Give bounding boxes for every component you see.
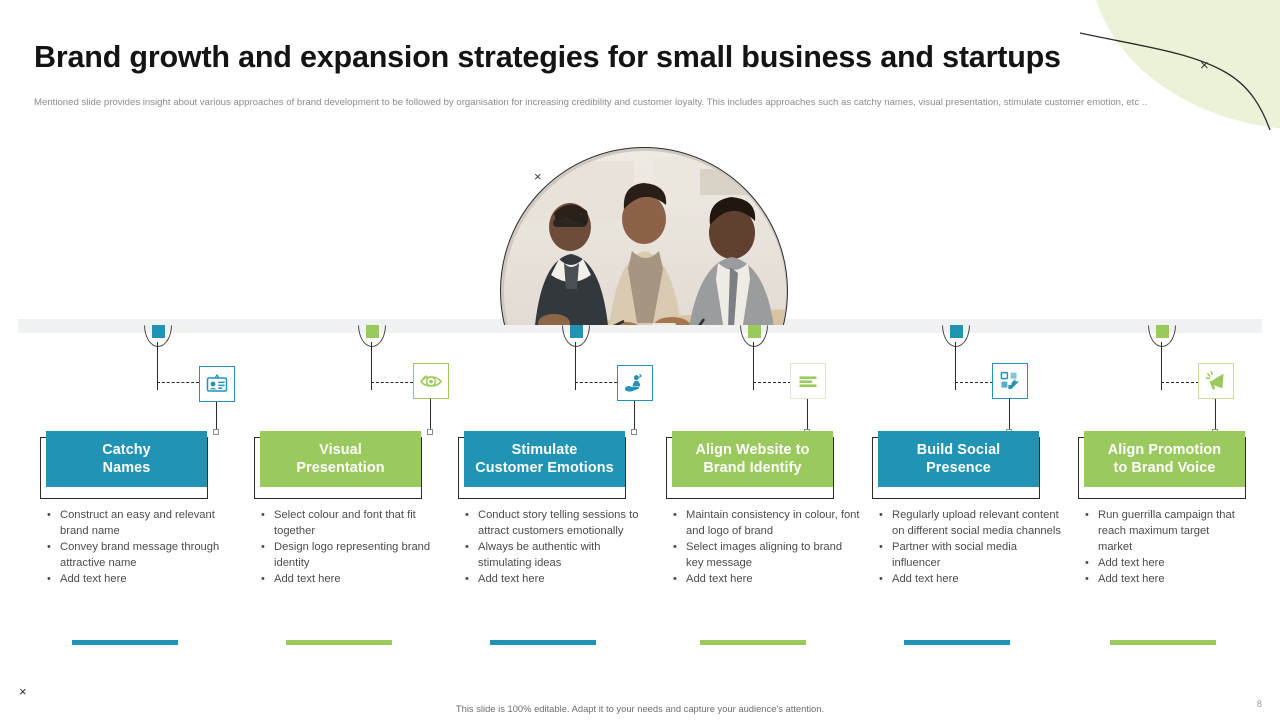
connector-stem-to-card xyxy=(1009,399,1010,432)
list-item: • Add text here xyxy=(1082,571,1242,587)
list-item: • Maintain consistency in colour, font a… xyxy=(670,507,860,539)
footer-note: This slide is 100% editable. Adapt it to… xyxy=(0,703,1280,714)
close-icon[interactable]: × xyxy=(1200,57,1209,74)
bullet-text: Add text here xyxy=(686,571,860,587)
card-title-line2: Presence xyxy=(926,460,991,476)
strategy-card-6[interactable]: Align Promotion to Brand Voice xyxy=(1078,437,1246,499)
card-underline-rule xyxy=(700,640,806,645)
connector-stem-to-card xyxy=(634,401,635,432)
connector-dash-horizontal xyxy=(575,382,617,383)
social-share-network-icon[interactable] xyxy=(992,363,1028,399)
bullet-text: Always be authentic with stimulating ide… xyxy=(478,539,652,571)
bullet-list-5: • Regularly upload relevant content on d… xyxy=(876,507,1066,587)
bullet-glyph: • xyxy=(1082,507,1098,555)
list-item: • Select colour and font that fit togeth… xyxy=(258,507,448,539)
card-underline-rule xyxy=(904,640,1010,645)
hand-heart-person-icon[interactable] xyxy=(617,365,653,401)
business-team-meeting-photo xyxy=(504,151,786,325)
card-underline-rule xyxy=(72,640,178,645)
bullet-text: Add text here xyxy=(274,571,448,587)
card-title-line1: Stimulate xyxy=(512,442,578,458)
bullet-list-4: • Maintain consistency in colour, font a… xyxy=(670,507,860,587)
strategy-card-2[interactable]: Visual Presentation xyxy=(254,437,422,499)
bullet-glyph: • xyxy=(670,539,686,571)
bullet-glyph: • xyxy=(670,571,686,587)
card-title-line1: Align Promotion xyxy=(1108,442,1221,458)
bullet-text: Add text here xyxy=(1098,571,1242,587)
list-item: • Add text here xyxy=(462,571,652,587)
hero-image-container xyxy=(500,147,788,325)
bullet-glyph: • xyxy=(462,507,478,539)
connector-tick-square xyxy=(427,429,433,435)
card-title-line2: Presentation xyxy=(296,460,384,476)
card-title-line1: Build Social xyxy=(917,442,1001,458)
strategy-card-3[interactable]: Stimulate Customer Emotions xyxy=(458,437,626,499)
hero-image-circle xyxy=(500,147,788,325)
card-underline-rule xyxy=(490,640,596,645)
list-item: • Always be authentic with stimulating i… xyxy=(462,539,652,571)
bullet-glyph: • xyxy=(670,507,686,539)
node-square-icon xyxy=(366,325,379,338)
bullet-text: Add text here xyxy=(478,571,652,587)
connector-dash-horizontal xyxy=(1161,382,1199,383)
hero-close-icon[interactable]: × xyxy=(534,169,542,184)
bullet-glyph: • xyxy=(462,539,478,571)
bullet-glyph: • xyxy=(258,507,274,539)
bullet-text: Add text here xyxy=(60,571,234,587)
card-title-line1: Align Website to xyxy=(695,442,809,458)
list-item: • Convey brand message through attractiv… xyxy=(44,539,234,571)
bullet-text: Select colour and font that fit together xyxy=(274,507,448,539)
card-title-line2: Names xyxy=(103,460,151,476)
bullet-glyph: • xyxy=(1082,555,1098,571)
bullet-text: Add text here xyxy=(1098,555,1242,571)
connector-dash-horizontal xyxy=(157,382,199,383)
card-title: Stimulate Customer Emotions xyxy=(464,431,625,487)
strategy-card-5[interactable]: Build Social Presence xyxy=(872,437,1040,499)
connector-dash-horizontal xyxy=(371,382,413,383)
bullet-list-1: • Construct an easy and relevant brand n… xyxy=(44,507,234,587)
bullet-text: Select images aligning to brand key mess… xyxy=(686,539,860,571)
list-item: • Add text here xyxy=(876,571,1066,587)
connector-stem-to-card xyxy=(216,402,217,432)
card-title: Visual Presentation xyxy=(260,431,421,487)
strategy-card-1[interactable]: Catchy Names xyxy=(40,437,208,499)
page-title: Brand growth and expansion strategies fo… xyxy=(34,40,1174,75)
list-item: • Partner with social media influencer xyxy=(876,539,1066,571)
list-item: • Regularly upload relevant content on d… xyxy=(876,507,1066,539)
card-title-line1: Visual xyxy=(319,442,362,458)
bullet-list-6: • Run guerrilla campaign that reach maxi… xyxy=(1082,507,1242,587)
id-card-icon[interactable] xyxy=(199,366,235,402)
strategy-card-4[interactable]: Align Website to Brand Identify xyxy=(666,437,834,499)
connector-tick-square xyxy=(631,429,637,435)
bullet-list-3: • Conduct story telling sessions to attr… xyxy=(462,507,652,587)
document-lines-icon[interactable] xyxy=(790,363,826,399)
list-item: • Add text here xyxy=(1082,555,1242,571)
connector-stem-to-card xyxy=(807,399,808,432)
list-item: • Construct an easy and relevant brand n… xyxy=(44,507,234,539)
connector-stem-to-card xyxy=(430,399,431,432)
list-item: • Add text here xyxy=(670,571,860,587)
bullet-glyph: • xyxy=(462,571,478,587)
connector-stem-to-card xyxy=(1215,399,1216,432)
card-title-line2: Customer Emotions xyxy=(475,460,613,476)
card-underline-rule xyxy=(286,640,392,645)
card-title: Align Promotion to Brand Voice xyxy=(1084,431,1245,487)
bullet-text: Design logo representing brand identity xyxy=(274,539,448,571)
list-item: • Add text here xyxy=(44,571,234,587)
bullet-glyph: • xyxy=(1082,571,1098,587)
page-subtitle: Mentioned slide provides insight about v… xyxy=(34,96,1249,109)
bullet-list-2: • Select colour and font that fit togeth… xyxy=(258,507,448,587)
bullet-text: Run guerrilla campaign that reach maximu… xyxy=(1098,507,1242,555)
bullet-text: Construct an easy and relevant brand nam… xyxy=(60,507,234,539)
bullet-text: Convey brand message through attractive … xyxy=(60,539,234,571)
bullet-glyph: • xyxy=(258,571,274,587)
list-item: • Design logo representing brand identit… xyxy=(258,539,448,571)
card-underline-rule xyxy=(1110,640,1216,645)
bullet-text: Partner with social media influencer xyxy=(892,539,1066,571)
list-item: • Conduct story telling sessions to attr… xyxy=(462,507,652,539)
connector-tick-square xyxy=(213,429,219,435)
megaphone-icon[interactable] xyxy=(1198,363,1234,399)
bullet-text: Maintain consistency in colour, font and… xyxy=(686,507,860,539)
bullet-text: Regularly upload relevant content on dif… xyxy=(892,507,1066,539)
connector-dash-horizontal xyxy=(955,382,993,383)
connector-dash-horizontal xyxy=(753,382,791,383)
bullet-glyph: • xyxy=(44,507,60,539)
bullet-text: Conduct story telling sessions to attrac… xyxy=(478,507,652,539)
footer-close-icon[interactable]: × xyxy=(19,684,27,699)
bullet-glyph: • xyxy=(876,539,892,571)
eye-vision-icon[interactable] xyxy=(413,363,449,399)
bullet-text: Add text here xyxy=(892,571,1066,587)
slide-canvas: Brand growth and expansion strategies fo… xyxy=(0,0,1280,720)
node-square-icon xyxy=(748,325,761,338)
card-title-line2: to Brand Voice xyxy=(1114,460,1216,476)
card-title-line1: Catchy xyxy=(102,442,151,458)
card-title: Catchy Names xyxy=(46,431,207,487)
bullet-glyph: • xyxy=(44,571,60,587)
node-square-icon xyxy=(1156,325,1169,338)
card-title: Build Social Presence xyxy=(878,431,1039,487)
bullet-glyph: • xyxy=(876,507,892,539)
node-square-icon xyxy=(570,325,583,338)
node-square-icon xyxy=(950,325,963,338)
card-title: Align Website to Brand Identify xyxy=(672,431,833,487)
page-number: 8 xyxy=(1257,699,1262,710)
list-item: • Add text here xyxy=(258,571,448,587)
bullet-glyph: • xyxy=(44,539,60,571)
list-item: • Run guerrilla campaign that reach maxi… xyxy=(1082,507,1242,555)
card-title-line2: Brand Identify xyxy=(703,460,801,476)
bullet-glyph: • xyxy=(876,571,892,587)
list-item: • Select images aligning to brand key me… xyxy=(670,539,860,571)
node-square-icon xyxy=(152,325,165,338)
bullet-glyph: • xyxy=(258,539,274,571)
